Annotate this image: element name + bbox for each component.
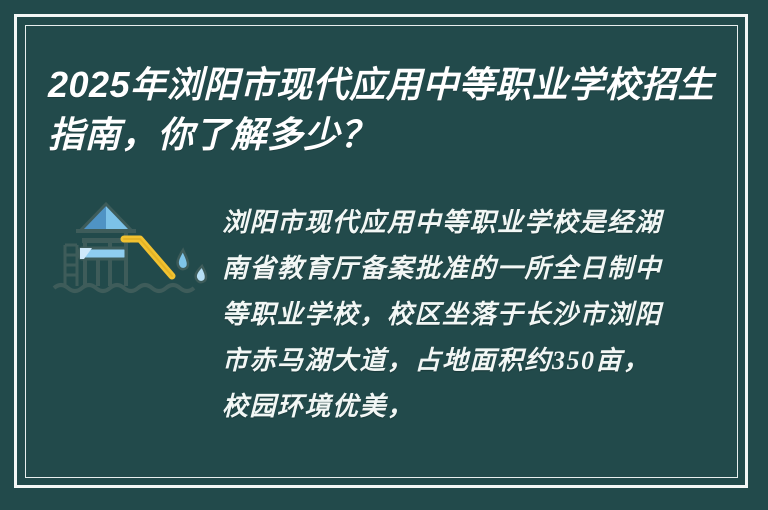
water-wave-line: [54, 285, 194, 291]
water-playground-illustration: [52, 198, 212, 308]
water-slide: [124, 239, 172, 276]
water-splash: [178, 250, 206, 282]
splash-droplet-small: [196, 266, 206, 282]
ladder-posts: [65, 245, 77, 286]
splash-droplet-large: [178, 250, 188, 269]
playground-slide-icon: [52, 198, 212, 308]
body-paragraph: 浏阳市现代应用中等职业学校是经湖南省教育厅备案批准的一所全日制中等职业学校，校区…: [222, 200, 670, 430]
page-title: 2025年浏阳市现代应用中等职业学校招生指南，你了解多少？: [48, 60, 728, 160]
poster-canvas: 2025年浏阳市现代应用中等职业学校招生指南，你了解多少？: [0, 0, 768, 510]
roof-eave: [76, 229, 136, 233]
